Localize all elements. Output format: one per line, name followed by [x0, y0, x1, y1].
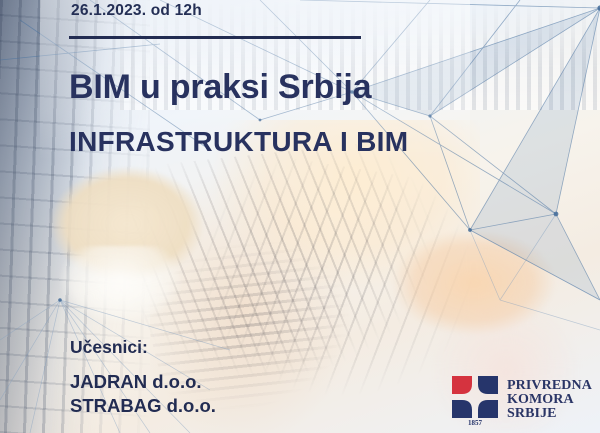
event-date-time: 26.1.2023. od 12h: [71, 2, 202, 20]
participants-list: JADRAN d.o.o. STRABAG d.o.o.: [70, 370, 216, 417]
page-title: BIM u praksi Srbija: [69, 70, 371, 106]
privredna-komora-srbije-emblem-icon: 1857: [450, 374, 500, 426]
logo-line-3: SRBIJE: [507, 407, 592, 421]
svg-text:1857: 1857: [468, 419, 483, 426]
page-subtitle: INFRASTRUKTURA I BIM: [69, 127, 408, 156]
list-item: JADRAN d.o.o.: [70, 370, 216, 394]
event-banner: 26.1.2023. od 12h BIM u praksi Srbija IN…: [0, 0, 600, 433]
participants-label: Učesnici:: [70, 337, 148, 358]
title-divider-rule: [69, 36, 361, 39]
list-item: STRABAG d.o.o.: [70, 394, 216, 418]
logo-line-2: KOMORA: [507, 393, 592, 407]
organization-name: PRIVREDNA KOMORA SRBIJE: [507, 379, 592, 422]
organization-logo: 1857 PRIVREDNA KOMORA SRBIJE: [450, 374, 592, 426]
logo-line-1: PRIVREDNA: [507, 379, 592, 393]
